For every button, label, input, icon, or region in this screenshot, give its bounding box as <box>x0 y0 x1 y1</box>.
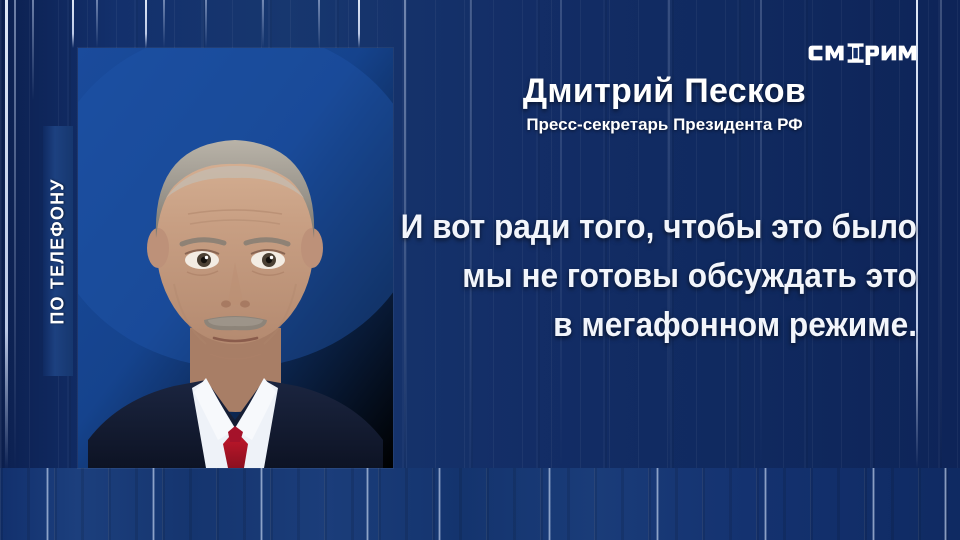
smotrim-logo <box>808 40 916 66</box>
lower-band-accent-stripe <box>152 468 155 540</box>
quote-line: И вот ради того, чтобы это было <box>380 203 917 252</box>
broadcast-lower-third-graphic: ПО ТЕЛЕФОНУ <box>0 0 960 540</box>
quote-text: И вот ради того, чтобы это было мы не го… <box>380 203 917 350</box>
accent-stripe <box>205 0 207 48</box>
lower-band-accent-stripe <box>46 468 49 540</box>
lower-band <box>0 468 960 540</box>
accent-stripe <box>358 0 360 48</box>
lower-band-accent-stripe <box>260 468 263 540</box>
quote-line: в мегафонном режиме. <box>380 301 917 350</box>
lower-band-accent-stripe <box>438 468 441 540</box>
accent-stripe <box>96 0 98 48</box>
lower-band-accent-stripe <box>656 468 659 540</box>
accent-stripe <box>262 0 264 48</box>
lower-band-accent-stripe <box>548 468 551 540</box>
accent-stripe <box>72 0 74 48</box>
accent-stripe <box>14 0 16 470</box>
accent-stripe <box>163 0 165 48</box>
accent-stripe <box>145 0 147 48</box>
accent-stripe <box>940 0 942 468</box>
quote-line: мы не готовы обсуждать это <box>380 252 917 301</box>
lower-band-accent-stripe <box>944 468 947 540</box>
accent-stripe <box>5 0 8 470</box>
speaker-role: Пресс-секретарь Президента РФ <box>412 115 917 135</box>
speaker-portrait-photo <box>78 48 393 468</box>
accent-stripe <box>32 0 34 100</box>
lower-band-accent-stripe <box>872 468 875 540</box>
lower-band-accent-stripe <box>764 468 767 540</box>
speaker-name: Дмитрий Песков <box>412 72 917 111</box>
lower-band-accent-stripe <box>366 468 369 540</box>
lower-band-stripes-dark <box>0 468 960 540</box>
accent-stripe <box>318 0 320 48</box>
broadcast-mode-label: ПО ТЕЛЕФОНУ <box>43 126 73 376</box>
broadcast-mode-label-text: ПО ТЕЛЕФОНУ <box>48 178 69 324</box>
